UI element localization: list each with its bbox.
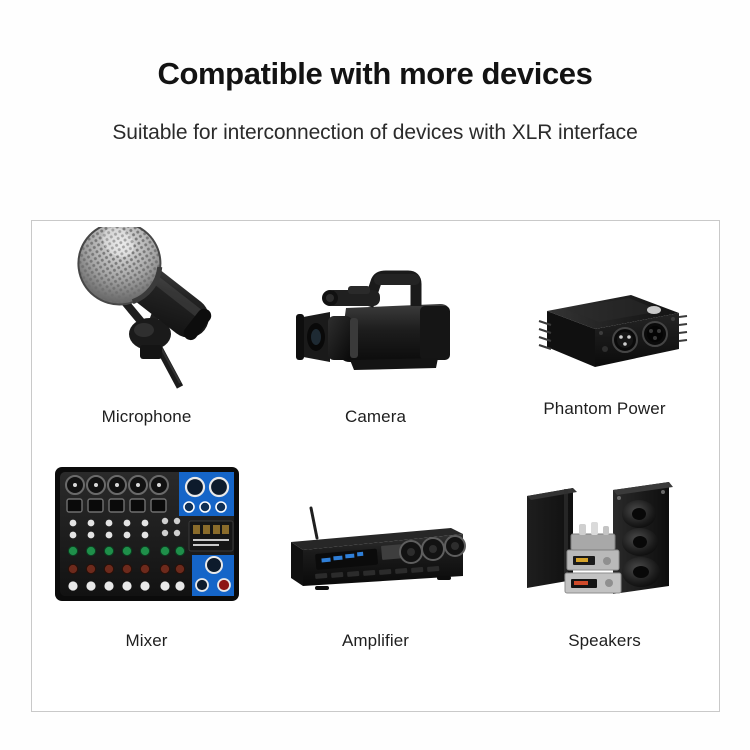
speakers-icon [490, 439, 719, 619]
page-title: Compatible with more devices [0, 56, 750, 92]
device-cell-phantom-power[interactable]: Phantom Power [490, 221, 719, 439]
device-cell-amplifier[interactable]: Amplifier [261, 439, 490, 711]
phantom-power-icon [490, 221, 719, 393]
page-subtitle: Suitable for interconnection of devices … [0, 120, 750, 145]
device-grid-card: Microphone [31, 220, 720, 712]
device-cell-camera[interactable]: Camera [261, 221, 490, 439]
device-grid: Microphone [32, 221, 719, 711]
device-cell-mixer[interactable]: Mixer [32, 439, 261, 711]
microphone-icon [32, 221, 261, 393]
device-label: Speakers [568, 631, 641, 651]
device-cell-microphone[interactable]: Microphone [32, 221, 261, 439]
camcorder-icon [261, 221, 490, 393]
amplifier-icon [261, 439, 490, 619]
device-label: Amplifier [342, 631, 409, 651]
audio-mixer-icon [32, 439, 261, 619]
compatibility-page: Compatible with more devices Suitable fo… [0, 0, 750, 750]
device-label: Phantom Power [543, 399, 665, 419]
device-label: Microphone [102, 407, 192, 427]
device-cell-speakers[interactable]: Speakers [490, 439, 719, 711]
device-label: Mixer [125, 631, 167, 651]
device-label: Camera [345, 407, 406, 427]
